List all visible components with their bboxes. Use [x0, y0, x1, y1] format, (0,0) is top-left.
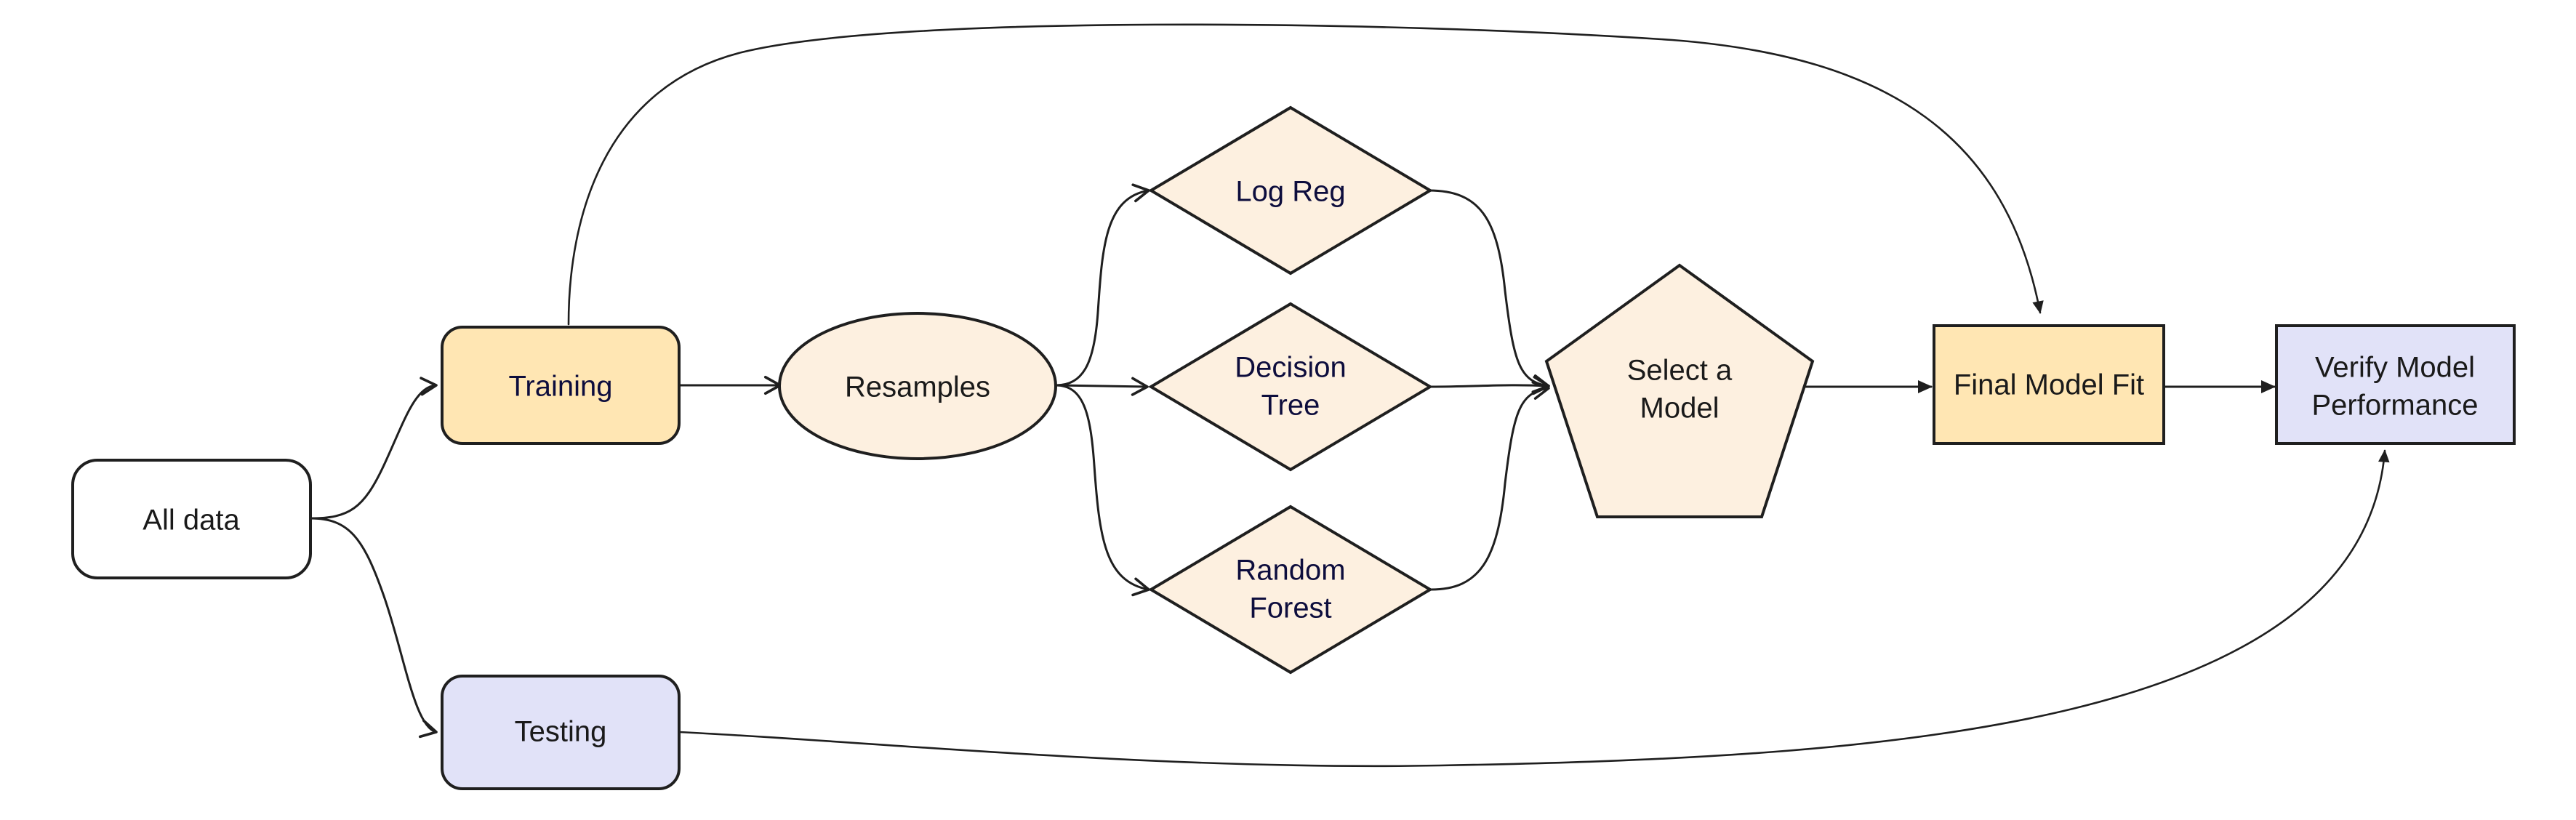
flowchart-canvas: All data Training Testing Resamples Log … [0, 0, 2576, 820]
node-decision-tree[interactable]: Decision Tree [1151, 304, 1430, 470]
decision-tree-shape[interactable] [1151, 304, 1430, 470]
node-resamples[interactable]: Resamples [779, 313, 1056, 459]
node-log-reg[interactable]: Log Reg [1151, 108, 1430, 273]
node-select-a-model[interactable]: Select a Model [1546, 265, 1813, 517]
edge-resamples-to-log-reg [1056, 190, 1149, 385]
node-all-data[interactable]: All data [73, 460, 310, 578]
edge-random-forest-to-select-a-model [1431, 388, 1549, 590]
random-forest-shape[interactable] [1151, 507, 1430, 672]
log-reg-shape[interactable] [1151, 108, 1430, 273]
edge-testing-to-verify [679, 451, 2385, 766]
edge-decision-tree-to-select-a-model [1431, 385, 1549, 387]
testing-shape[interactable] [442, 676, 679, 789]
all-data-shape[interactable] [73, 460, 310, 578]
ml-workflow-flowchart: All data Training Testing Resamples Log … [0, 0, 2576, 820]
select-a-model-shape[interactable] [1546, 265, 1813, 517]
node-verify-model-performance[interactable]: Verify Model Performance [2276, 326, 2514, 443]
edge-resamples-to-random-forest [1056, 385, 1149, 590]
verify-model-performance-shape[interactable] [2276, 326, 2514, 443]
edge-log-reg-to-select-a-model [1429, 190, 1549, 386]
node-training[interactable]: Training [442, 327, 679, 443]
edge-all-data-to-training [310, 385, 436, 518]
node-testing[interactable]: Testing [442, 676, 679, 789]
node-final-model-fit[interactable]: Final Model Fit [1934, 326, 2164, 443]
edge-all-data-to-testing [310, 518, 436, 732]
training-shape[interactable] [442, 327, 679, 443]
final-model-fit-shape[interactable] [1934, 326, 2164, 443]
resamples-shape[interactable] [779, 313, 1056, 459]
edge-resamples-to-decision-tree [1056, 385, 1147, 387]
node-random-forest[interactable]: Random Forest [1151, 507, 1430, 672]
